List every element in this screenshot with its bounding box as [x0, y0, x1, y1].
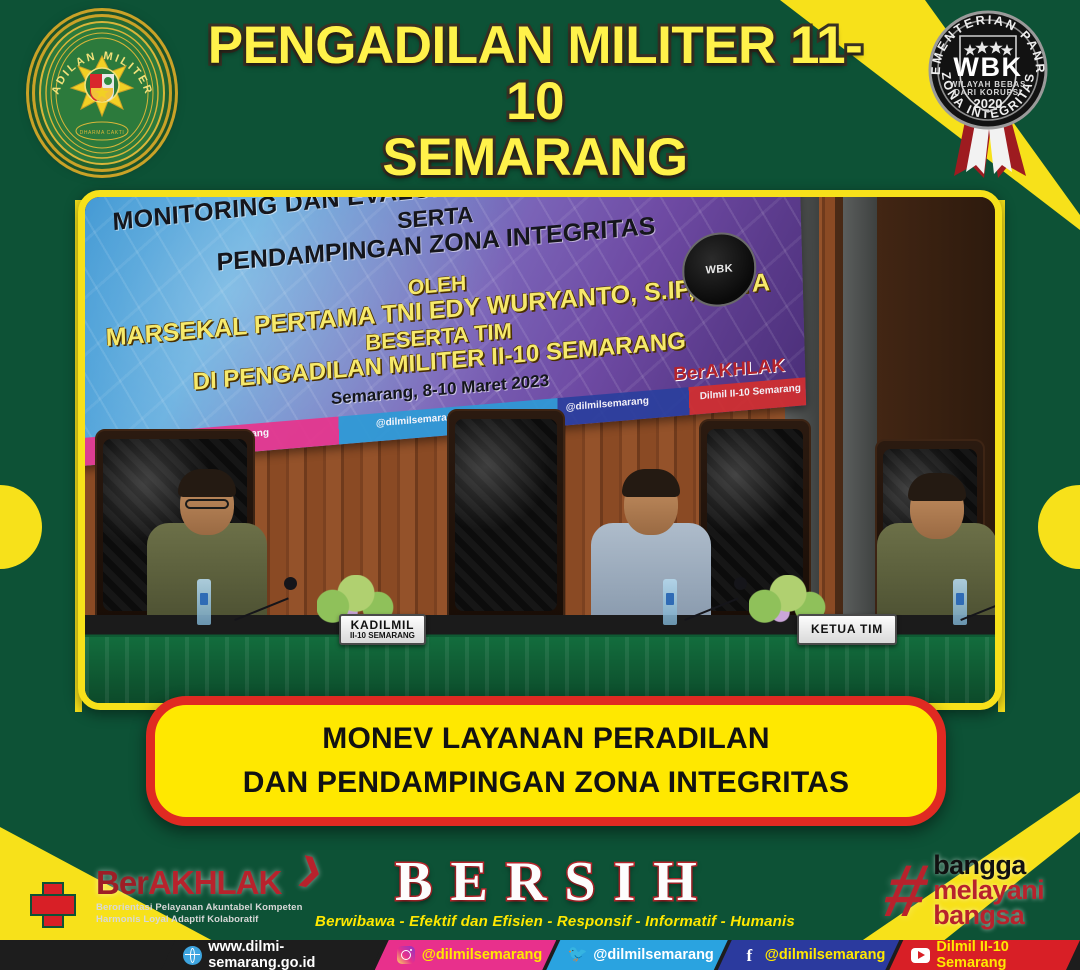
hashtag-icon: # [879, 858, 934, 924]
microphone-left [235, 577, 299, 621]
social-link-website-label: www.dilmi-semarang.go.id [208, 939, 371, 970]
bersih-wordmark: BERSIH [300, 853, 810, 911]
nameplate-kadilmil: KADILMIL II-10 SEMARANG [339, 614, 426, 645]
svg-text:DHARMA CAKTI: DHARMA CAKTI [80, 130, 125, 136]
instagram-icon [397, 946, 416, 965]
berakhlak-wordmark: BerAKHLAK ❯ [96, 866, 306, 900]
social-link-twitter-label: @dilmilsemarang [593, 947, 714, 963]
globe-icon [183, 946, 202, 965]
banner-social-yt: Dilmil II-10 Semarang [700, 383, 801, 402]
bangga-line-3: bangsa [933, 903, 1044, 928]
side-dot-left [0, 485, 42, 569]
social-link-youtube[interactable]: Dilmil II-10 Semarang [889, 940, 1080, 970]
berakhlak-prefix: Ber [96, 864, 148, 901]
berakhlak-logo: BerAKHLAK ❯ Berorientasi Pelayanan Akunt… [96, 866, 306, 926]
social-link-youtube-label: Dilmil II-10 Semarang [936, 939, 1066, 970]
bersih-logo: BERSIH Berwibawa - Efektif dan Efisien -… [300, 853, 810, 930]
poster-header: PENGADILAN MILITER II-10 DHARMA CAKTI PE… [0, 0, 1080, 180]
water-bottle-center [663, 579, 677, 625]
berakhlak-suffix: AKHLAK [148, 864, 281, 901]
social-bar-spacer [0, 940, 171, 970]
bangga-wordmark: bangga melayani bangsa [933, 853, 1044, 928]
water-bottle-left [197, 579, 211, 625]
bangga-melayani-bangsa-logo: # bangga melayani bangsa [886, 853, 1044, 928]
nameplate-ketua-tim-label: KETUA TIM [811, 623, 883, 636]
caption-line-2: DAN PENDAMPINGAN ZONA INTEGRITAS [243, 761, 849, 805]
banner-social-fb: @dilmilsemarang [566, 395, 649, 413]
photo-content: MONITORING DAN EVALUASI LAYANAN PERADILA… [85, 197, 995, 703]
microphone-center [685, 577, 749, 621]
poster-root: PENGADILAN MILITER II-10 DHARMA CAKTI PE… [0, 0, 1080, 970]
social-media-bar: www.dilmi-semarang.go.id @dilmilsemarang… [0, 940, 1080, 970]
page-title: PENGADILAN MILITER 11-10 SEMARANG [185, 18, 885, 186]
caption-line-1: MONEV LAYANAN PERADILAN [322, 717, 769, 761]
social-link-facebook[interactable]: f @dilmilsemarang [718, 940, 900, 970]
nameplate-ketua-tim: KETUA TIM [797, 614, 897, 645]
facebook-icon: f [740, 946, 759, 965]
social-link-website[interactable]: www.dilmi-semarang.go.id [161, 940, 385, 970]
svg-text:WBK: WBK [953, 52, 1022, 82]
social-link-instagram[interactable]: @dilmilsemarang [375, 940, 557, 970]
microphone-right [961, 577, 1002, 621]
svg-text:2020: 2020 [974, 96, 1003, 111]
nameplate-kadilmil-line1: KADILMIL [350, 619, 415, 632]
wbk-zona-integritas-badge-icon: KEMENTERIAN PANRB ZONA INTEGRITAS WBK WI… [914, 8, 1062, 183]
social-link-twitter[interactable]: 🐦 @dilmilsemarang [546, 940, 728, 970]
title-line-1: PENGADILAN MILITER 11-10 [185, 18, 885, 130]
bersih-tagline: Berwibawa - Efektif dan Efisien - Respon… [300, 913, 810, 930]
berakhlak-subtitle-line1: Berorientasi Pelayanan Akuntabel Kompete… [96, 902, 306, 914]
table-cloth [85, 637, 995, 703]
caption-plate: MONEV LAYANAN PERADILAN DAN PENDAMPINGAN… [146, 696, 946, 826]
twitter-icon: 🐦 [568, 946, 587, 965]
social-link-facebook-label: @dilmilsemarang [765, 947, 886, 963]
pengadilan-militer-seal-icon: PENGADILAN MILITER II-10 DHARMA CAKTI [32, 14, 172, 172]
side-dot-right [1038, 485, 1080, 569]
berakhlak-subtitle: Berorientasi Pelayanan Akuntabel Kompete… [96, 902, 306, 926]
nameplate-kadilmil-line2: II-10 SEMARANG [350, 632, 415, 640]
social-link-instagram-label: @dilmilsemarang [422, 947, 543, 963]
title-line-2: SEMARANG [185, 130, 885, 186]
youtube-icon [911, 946, 930, 965]
berakhlak-subtitle-line2: Harmonis Loyal Adaptif Kolaboratif [96, 914, 306, 926]
chair-center-empty [447, 409, 565, 619]
glasses-icon [185, 499, 229, 509]
event-photo: MONITORING DAN EVALUASI LAYANAN PERADILA… [78, 190, 1002, 710]
